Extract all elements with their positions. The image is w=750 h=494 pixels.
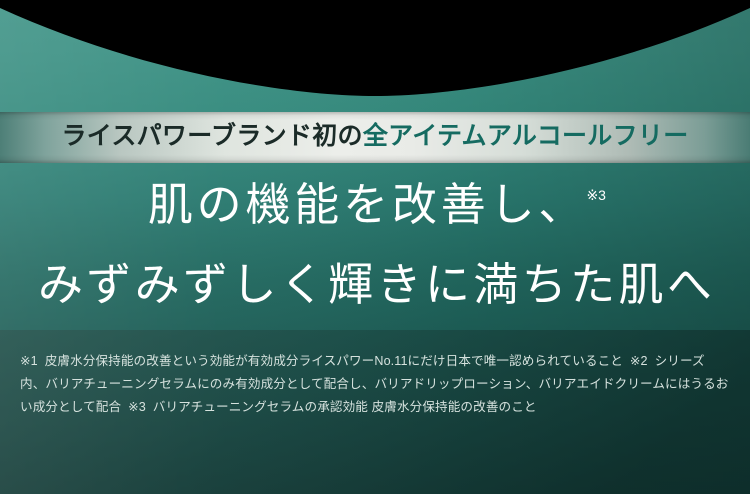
page-title: 肌の機能を改善し、※3 みずみずしく輝きに満ちた肌へ [0,182,750,307]
promo-stage: ライスパワーブランド初の全アイテムアルコールフリー 肌の機能を改善し、※3 みず… [0,0,750,494]
headline-banner: ライスパワーブランド初の全アイテムアルコールフリー [0,112,750,163]
footnote-1-text: 皮膚水分保持能の改善という効能が有効成分ライスパワーNo.11にだけ日本で唯一認… [45,354,623,368]
footnote-block: ※1皮膚水分保持能の改善という効能が有効成分ライスパワーNo.11にだけ日本で唯… [20,350,730,420]
footnote-1-marker: ※1 [20,354,38,368]
footnote-3-text: バリアチューニングセラムの承認効能 皮膚水分保持能の改善のこと [153,400,537,414]
headline-line-1-text: 肌の機能を改善し、 [148,179,587,230]
headline-line-2: みずみずしく輝きに満ちた肌へ [0,262,750,307]
headline-line-1: 肌の機能を改善し、※3 [0,182,750,227]
footnote-2-marker: ※2 [630,354,648,368]
headline-superscript-mark: ※3 [586,187,606,203]
banner-text-group: ライスパワーブランド初の全アイテムアルコールフリー [61,124,688,149]
banner-accent-text: 全アイテムアルコールフリー [363,122,689,150]
banner-lead-text: ライスパワーブランド初の [61,122,362,150]
footnote-3-marker: ※3 [128,400,146,414]
